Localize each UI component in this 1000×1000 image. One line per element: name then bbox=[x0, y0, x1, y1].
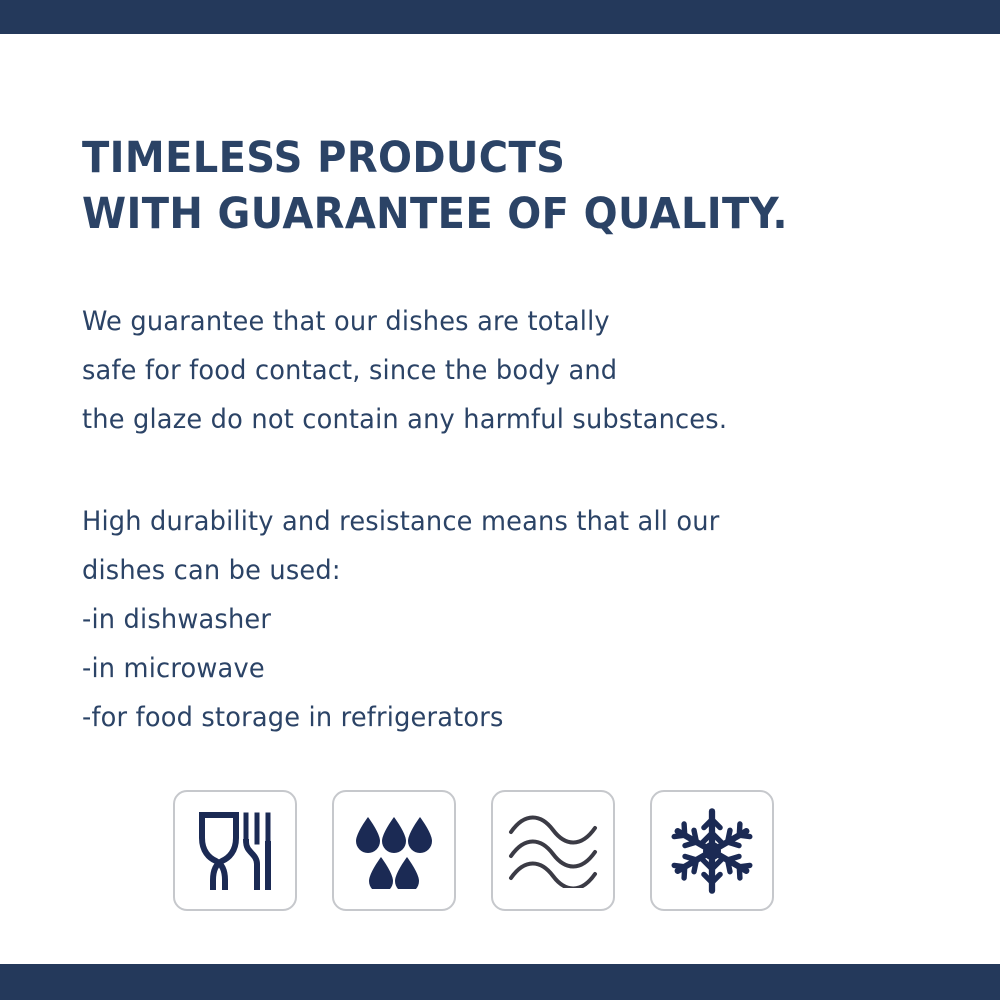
page-title-line-2: WITH GUARANTEE OF QUALITY. bbox=[82, 186, 788, 242]
guarantee-paragraph-line-1: We guarantee that our dishes are totally bbox=[82, 297, 727, 346]
durability-paragraph: High durability and resistance means tha… bbox=[82, 497, 719, 742]
promo-page: TIMELESS PRODUCTS WITH GUARANTEE OF QUAL… bbox=[0, 0, 1000, 1000]
dishwasher-safe-icon-box bbox=[332, 790, 456, 911]
food-safe-icon-box bbox=[173, 790, 297, 911]
page-title: TIMELESS PRODUCTS WITH GUARANTEE OF QUAL… bbox=[82, 130, 788, 242]
guarantee-paragraph: We guarantee that our dishes are totally… bbox=[82, 297, 727, 444]
guarantee-paragraph-line-2: safe for food contact, since the body an… bbox=[82, 346, 727, 395]
certification-icon-row bbox=[173, 790, 774, 911]
top-accent-bar bbox=[0, 0, 1000, 34]
microwave-safe-icon bbox=[507, 814, 599, 888]
durability-paragraph-line-1: High durability and resistance means tha… bbox=[82, 497, 719, 546]
bottom-accent-bar bbox=[0, 964, 1000, 1000]
freezer-safe-icon bbox=[667, 805, 757, 897]
durability-paragraph-line-2: dishes can be used: bbox=[82, 546, 719, 595]
page-title-line-1: TIMELESS PRODUCTS bbox=[82, 130, 788, 186]
microwave-safe-icon-box bbox=[491, 790, 615, 911]
dishwasher-safe-icon bbox=[352, 813, 436, 889]
guarantee-paragraph-line-3: the glaze do not contain any harmful sub… bbox=[82, 395, 727, 444]
food-safe-icon bbox=[196, 810, 274, 892]
content-area: TIMELESS PRODUCTS WITH GUARANTEE OF QUAL… bbox=[82, 34, 1000, 964]
usage-item-dishwasher: -in dishwasher bbox=[82, 595, 719, 644]
usage-item-refrigerator: -for food storage in refrigerators bbox=[82, 693, 719, 742]
usage-item-microwave: -in microwave bbox=[82, 644, 719, 693]
freezer-safe-icon-box bbox=[650, 790, 774, 911]
